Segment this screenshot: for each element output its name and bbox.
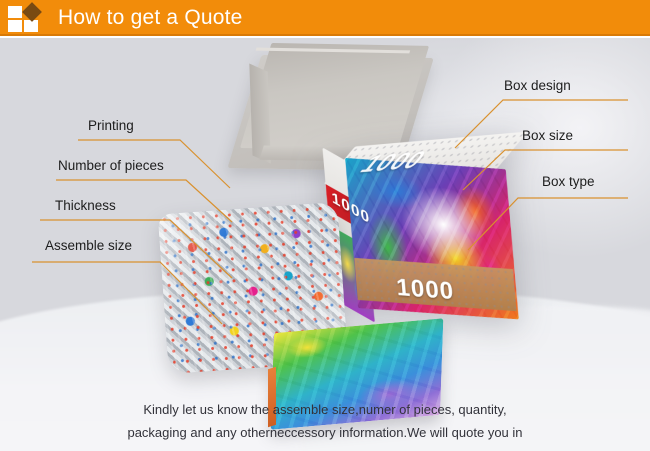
callout-leader-box-type xyxy=(0,38,650,338)
product-scene: 1000 1000 1000 Printing Number of pieces xyxy=(0,38,650,451)
quote-instructions: Kindly let us know the assemble size,num… xyxy=(0,398,650,444)
header-bar: How to get a Quote xyxy=(0,0,650,36)
logo-square-top-left xyxy=(8,6,22,18)
page-title: How to get a Quote xyxy=(58,3,243,33)
company-logo xyxy=(8,6,50,32)
quote-instructions-line-2: packaging and any otherneccessory inform… xyxy=(0,421,650,444)
logo-square-bottom-left xyxy=(8,20,22,32)
quote-infographic: How to get a Quote xyxy=(0,0,650,451)
logo-diamond-icon xyxy=(22,2,42,22)
quote-instructions-line-1: Kindly let us know the assemble size,num… xyxy=(0,398,650,421)
